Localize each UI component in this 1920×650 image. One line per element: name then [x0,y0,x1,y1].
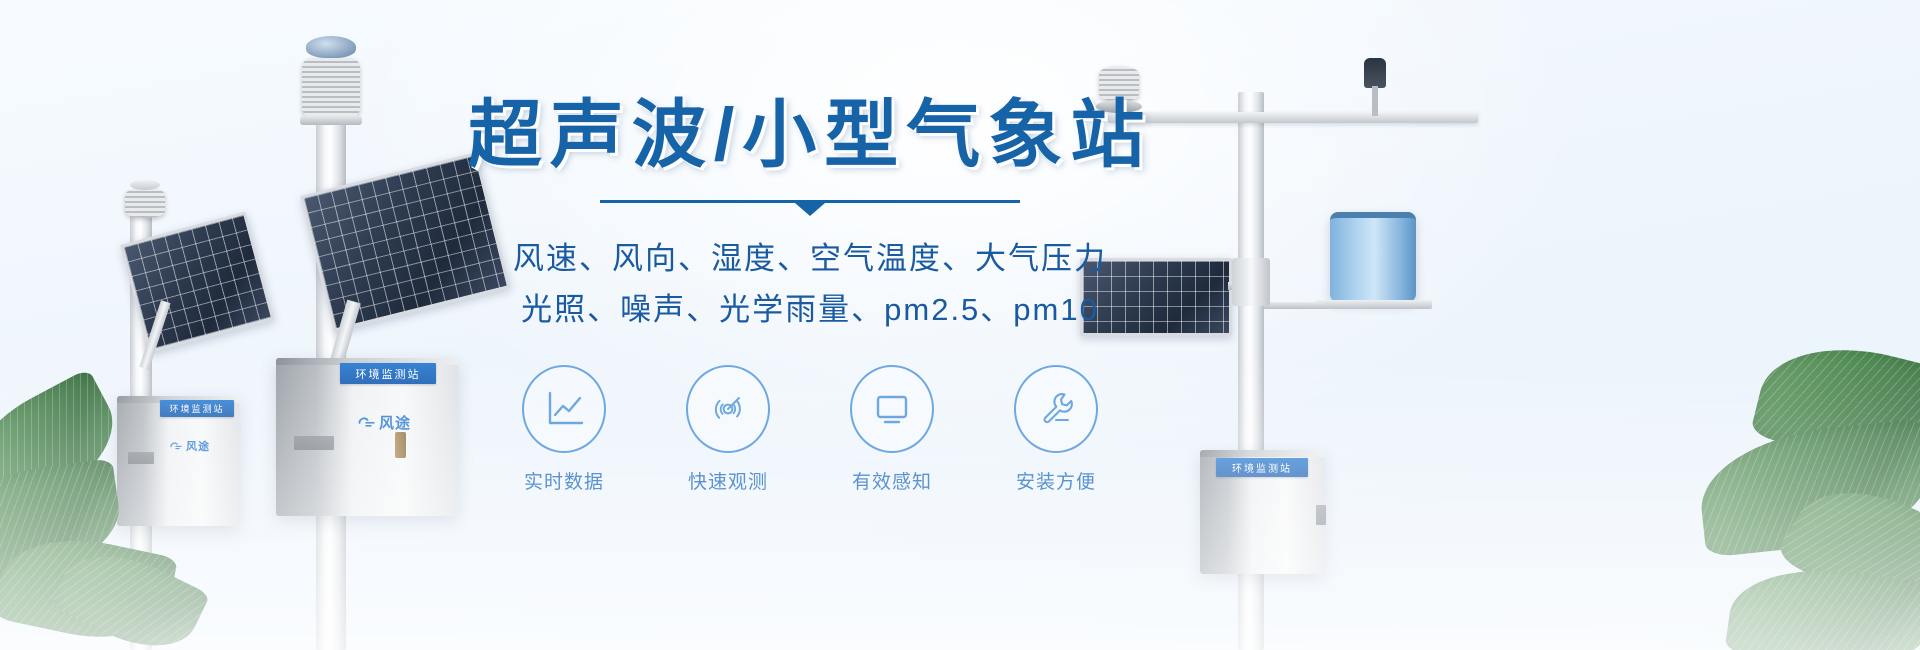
subtitle-line-2: 光照、噪声、光学雨量、pm2.5、pm10 [440,285,1180,335]
left-shield-cap [130,180,160,190]
feature-easy-installation[interactable]: 安装方便 [997,365,1115,494]
wrench-icon [1034,387,1078,431]
right-mast-collar [1232,258,1270,306]
feature-realtime-data[interactable]: 实时数据 [505,365,623,494]
page-title: 超声波/小型气象站 [440,96,1180,174]
center-radiation-shield-icon [302,58,360,118]
feature-icon-circle [850,365,934,453]
line-chart-icon [542,387,586,431]
banner-content: 超声波/小型气象站 风速、风向、湿度、空气温度、大气压力 光照、噪声、光学雨量、… [440,96,1180,494]
feature-effective-sensing[interactable]: 有效感知 [833,365,951,494]
feature-list: 实时数据 快速观测 [440,365,1180,494]
feature-icon-circle [522,365,606,453]
feature-label: 有效感知 [833,467,951,494]
right-collector-bucket [1330,212,1416,302]
feature-label: 实时数据 [505,467,623,494]
radar-scan-icon [706,387,750,431]
subtitle-block: 风速、风向、湿度、空气温度、大气压力 光照、噪声、光学雨量、pm2.5、pm10 [440,234,1180,334]
right-bucket-arm [1264,302,1324,309]
product-banner: 环境监测站 风途 环境监测站 风途 [0,0,1920,650]
subtitle-line-1: 风速、风向、湿度、空气温度、大气压力 [440,234,1180,284]
center-shield-base [300,116,362,125]
monitor-icon [870,387,914,431]
left-radiation-shield-icon [125,188,165,218]
right-bucket-shelf [1316,300,1432,309]
center-ultrasonic-sensor-icon [306,36,356,58]
chevron-down-icon [795,203,825,216]
feature-fast-observation[interactable]: 快速观测 [669,365,787,494]
feature-label: 安装方便 [997,467,1115,494]
right-rain-sensor-icon [1364,58,1386,88]
feature-label: 快速观测 [669,467,787,494]
title-divider [600,200,1020,212]
right-sensor-pole [1372,86,1378,116]
feature-icon-circle [686,365,770,453]
feature-icon-circle [1014,365,1098,453]
